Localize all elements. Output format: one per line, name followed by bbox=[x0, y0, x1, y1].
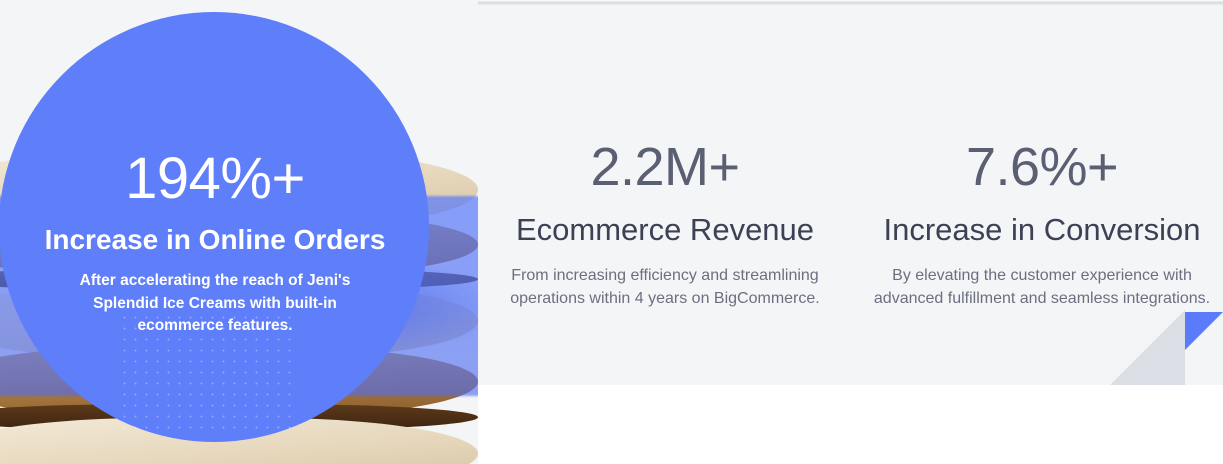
stat-title: Increase in Conversion bbox=[862, 212, 1222, 248]
blue-triangle-icon bbox=[1185, 312, 1223, 350]
stat-value: 2.2M+ bbox=[470, 140, 860, 194]
stat-value: 194%+ bbox=[10, 150, 420, 208]
stat-title: Ecommerce Revenue bbox=[470, 212, 860, 248]
stat-card-online-orders: 194%+ Increase in Online Orders After ac… bbox=[10, 150, 420, 338]
stat-description: From increasing efficiency and streamlin… bbox=[485, 264, 845, 310]
stat-card-ecommerce-revenue: 2.2M+ Ecommerce Revenue From increasing … bbox=[470, 140, 860, 310]
stats-section: 194%+ Increase in Online Orders After ac… bbox=[0, 0, 1223, 464]
stat-value: 7.6%+ bbox=[862, 140, 1222, 194]
gray-triangle-icon bbox=[1110, 310, 1185, 385]
stat-card-increase-in-conversion: 7.6%+ Increase in Conversion By elevatin… bbox=[862, 140, 1222, 310]
stat-description: After accelerating the reach of Jeni's S… bbox=[65, 270, 365, 337]
stat-title: Increase in Online Orders bbox=[10, 224, 420, 256]
stat-description: By elevating the customer experience wit… bbox=[872, 264, 1212, 310]
